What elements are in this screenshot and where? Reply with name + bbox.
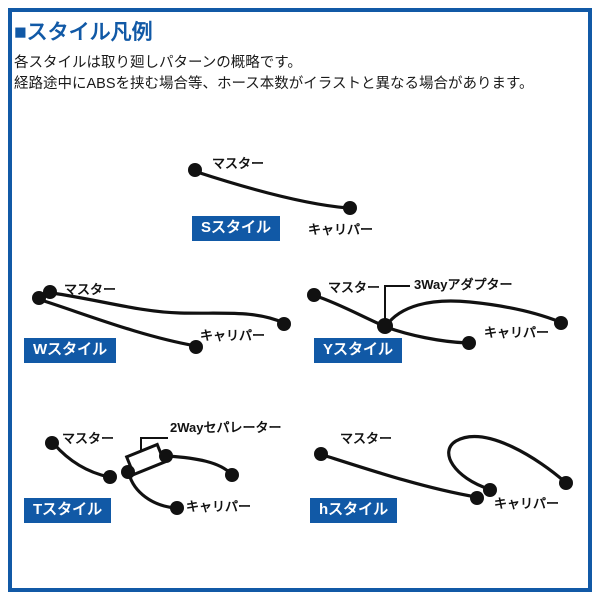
h-style-caliper-node-mid	[483, 483, 497, 497]
t-style-master-label: マスター	[62, 431, 114, 446]
badge-t-style[interactable]: Tスタイル	[24, 498, 111, 523]
s-style-master-label: マスター	[212, 156, 264, 171]
w-style-caliper-label: キャリパー	[200, 328, 265, 343]
w-style-master-node-lower	[32, 291, 46, 305]
y-style-master-node	[307, 288, 321, 302]
t-style-separator-label: 2Wayセパレーター	[170, 420, 281, 435]
t-style-hose-separator-to-caliper-lower	[129, 474, 176, 508]
w-style-caliper-node-right	[277, 317, 291, 331]
t-style-caliper-node-right	[225, 468, 239, 482]
y-style-caliper-node-lower	[462, 336, 476, 350]
t-style-caliper-node-lower	[170, 501, 184, 515]
y-style-caliper-label: キャリパー	[484, 325, 549, 340]
y-style-hose-master-to-adapter	[316, 296, 384, 326]
y-style-caliper-node-right	[554, 316, 568, 330]
y-style-adapter-leader	[385, 286, 410, 322]
y-style-adapter-label: 3Wayアダプター	[414, 277, 512, 292]
style-legend-page: ■スタイル凡例 各スタイルは取り廻しパターンの概略です。 経路途中にABSを挟む…	[0, 0, 600, 600]
y-style-hose-adapter-upper	[386, 301, 560, 326]
badge-y-style[interactable]: Yスタイル	[314, 338, 402, 363]
t-style-hose-separator-to-caliper-right	[168, 456, 231, 474]
t-style-mid-node	[103, 470, 117, 484]
badge-s-style[interactable]: Sスタイル	[192, 216, 280, 241]
y-style-master-label: マスター	[328, 280, 380, 295]
h-style-caliper-node-right	[559, 476, 573, 490]
h-style-master-node	[314, 447, 328, 461]
t-style-separator-in-node	[121, 465, 135, 479]
t-style-caliper-label: キャリパー	[186, 499, 251, 514]
s-style-hose-master-to-caliper	[197, 172, 348, 208]
s-style-caliper-node	[343, 201, 357, 215]
t-style-master-node	[45, 436, 59, 450]
h-style-hose-loop-to-caliper-right	[449, 437, 565, 489]
s-style-master-node	[188, 163, 202, 177]
h-style-caliper-label: キャリパー	[494, 496, 559, 511]
s-style-caliper-label: キャリパー	[308, 222, 373, 237]
w-style-master-label: マスター	[64, 282, 116, 297]
h-style-master-label: マスター	[340, 431, 392, 446]
t-style-hose-master-to-mid	[54, 444, 109, 477]
y-style-adapter-junction-node	[377, 318, 393, 334]
h-style-hose-master-to-caliper	[323, 455, 476, 497]
h-style-caliper-node-lower	[470, 491, 484, 505]
t-style-caliper-node-upper	[159, 449, 173, 463]
w-style-hose-upper	[52, 293, 284, 323]
badge-w-style[interactable]: Wスタイル	[24, 338, 116, 363]
badge-h-style[interactable]: hスタイル	[310, 498, 397, 523]
